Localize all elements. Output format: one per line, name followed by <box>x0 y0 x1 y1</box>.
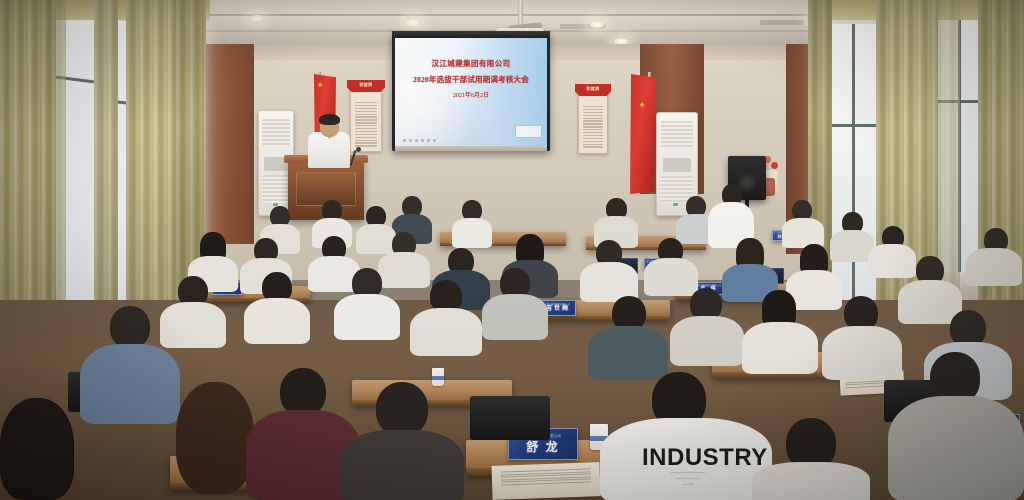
chair-back <box>470 396 550 440</box>
flag-star-icon: ★ <box>639 102 645 109</box>
curtain-panel-left-2 <box>52 0 66 344</box>
flower-icon <box>771 162 778 169</box>
tshirt-subtext: the new generation of modern style <box>618 472 758 475</box>
ceiling-vent <box>760 20 804 25</box>
slide-text-block: 汉江城建集团有限公司 2020年选拔干部试用期满考核大会 2021年6月2日 <box>395 58 547 102</box>
poster-body-text <box>355 102 377 147</box>
placard-name: 吉世梅 <box>546 306 570 312</box>
toolbar-dot-icon <box>427 139 430 142</box>
conference-photo: 汉江城建集团有限公司 2020年选拔干部试用期满考核大会 2021年6月2日 制… <box>0 0 1024 500</box>
slide-toolbar-icons <box>403 139 436 142</box>
curtain-panel-left-3 <box>94 0 118 340</box>
tshirt-print: INDUSTRY <box>642 444 768 472</box>
ceiling-downlight <box>248 14 266 23</box>
tshirt-subtext: original design collection <box>618 478 758 481</box>
toolbar-dot-icon <box>415 139 418 142</box>
window-mullion <box>826 124 882 127</box>
ceiling-downlight <box>404 18 422 27</box>
toolbar-dot-icon <box>433 139 436 142</box>
toolbar-dot-icon <box>403 139 406 142</box>
poster-title-right: 制度牌 <box>579 86 607 92</box>
window-mullion <box>852 24 855 316</box>
toolbar-dot-icon <box>421 139 424 142</box>
tshirt-subtext: since 1998 <box>618 484 758 487</box>
curtain-panel-left-4 <box>126 0 180 330</box>
ac-grille <box>262 175 289 202</box>
placard-name: 舒 龙 <box>526 441 559 453</box>
slide-corner-badge <box>515 125 542 138</box>
wall-poster-left: 制度牌 <box>350 88 382 152</box>
projection-screen: 汉江城建集团有限公司 2020年选拔干部试用期满考核大会 2021年6月2日 <box>395 38 547 146</box>
paper-cup <box>432 368 444 386</box>
poster-title-left: 制度牌 <box>351 82 381 88</box>
slide-event-title: 2020年选拔干部试用期满考核大会 <box>395 74 547 86</box>
projection-screen-frame: 汉江城建集团有限公司 2020年选拔干部试用期满考核大会 2021年6月2日 <box>392 31 550 151</box>
document-sheet <box>491 462 600 500</box>
toolbar-dot-icon <box>409 139 412 142</box>
slide-company-name: 汉江城建集团有限公司 <box>395 58 547 70</box>
ac-grille <box>661 121 693 148</box>
slide-date: 2021年6月2日 <box>395 92 547 101</box>
presenter-hair <box>319 114 340 125</box>
ac-power-led-icon[interactable] <box>673 203 678 206</box>
flag-star-icon: ★ <box>317 82 323 89</box>
ac-grille <box>262 119 289 146</box>
ac-control-panel <box>663 158 692 172</box>
poster-body-text <box>583 106 603 149</box>
microphone-icon <box>356 147 361 152</box>
ceiling-downlight <box>588 20 606 29</box>
wall-poster-right: 制度牌 <box>578 92 608 154</box>
chinese-flag-right: ★ <box>630 74 656 194</box>
screen-housing <box>392 31 550 38</box>
screen-bottom-bar <box>395 146 547 151</box>
curtain-panel-left-1 <box>0 0 56 348</box>
